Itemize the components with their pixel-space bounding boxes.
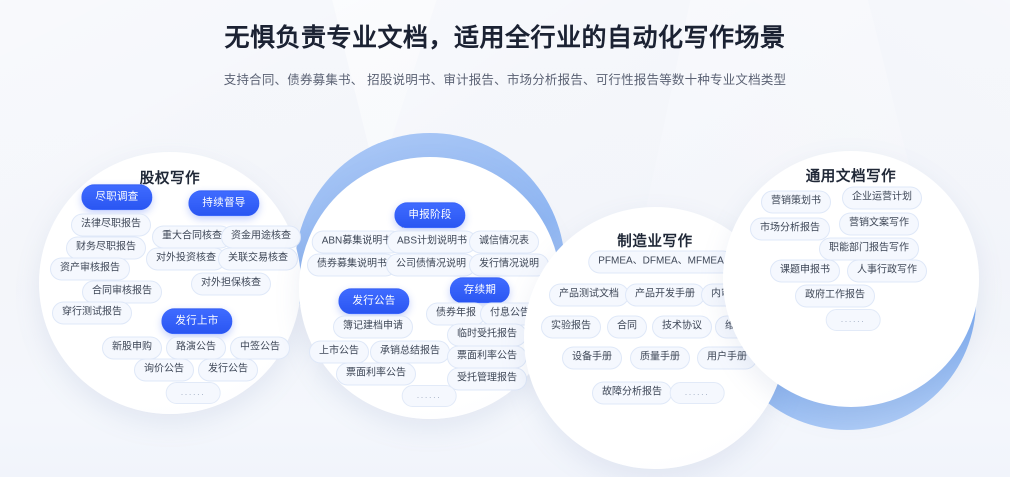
doc-type-tag[interactable]: 临时受托报告 <box>447 324 527 347</box>
doc-type-tag[interactable]: 公司债情况说明 <box>386 254 476 277</box>
doc-type-tag[interactable]: 票面利率公告 <box>447 346 527 369</box>
doc-type-tag[interactable]: 设备手册 <box>562 347 622 370</box>
doc-type-tag[interactable]: 债券募集说明书 <box>307 254 397 277</box>
doc-type-tag[interactable]: 穿行测试报告 <box>52 302 132 325</box>
doc-type-tag[interactable]: 债券年报 <box>426 303 486 326</box>
more-tag[interactable]: ...... <box>402 385 457 407</box>
doc-type-tag[interactable]: 营销策划书 <box>761 191 831 214</box>
doc-type-tag[interactable]: 企业运营计划 <box>842 187 922 210</box>
doc-type-tag[interactable]: 重大合同核查 <box>152 226 232 249</box>
doc-type-tag[interactable]: 政府工作报告 <box>795 285 875 308</box>
doc-type-tag[interactable]: 询价公告 <box>134 359 194 382</box>
doc-type-tag[interactable]: 路演公告 <box>166 337 226 360</box>
stage-tag[interactable]: 持续督导 <box>188 190 259 216</box>
doc-type-tag[interactable]: 产品开发手册 <box>625 284 705 307</box>
doc-type-tag[interactable]: 发行公告 <box>198 359 258 382</box>
stage-tag[interactable]: 存续期 <box>450 277 510 303</box>
doc-type-tag[interactable]: 合同审核报告 <box>82 281 162 304</box>
doc-type-tag[interactable]: 关联交易核查 <box>218 248 298 271</box>
more-tag[interactable]: ...... <box>826 309 881 331</box>
doc-type-tag[interactable]: 营销文案写作 <box>839 213 919 236</box>
doc-type-tag[interactable]: 资金用途核查 <box>221 226 301 249</box>
doc-type-tag[interactable]: 发行情况说明 <box>469 254 549 277</box>
doc-type-tag[interactable]: 故障分析报告 <box>592 382 672 405</box>
stage-tag[interactable]: 申报阶段 <box>394 202 465 228</box>
doc-type-tag[interactable]: 技术协议 <box>652 316 712 339</box>
stage-tag[interactable]: 尽职调查 <box>81 184 152 210</box>
doc-type-tag[interactable]: 资产审核报告 <box>50 258 130 281</box>
more-tag[interactable]: ...... <box>670 382 725 404</box>
doc-type-tag[interactable]: 财务尽职报告 <box>66 237 146 260</box>
doc-type-tag[interactable]: 受托管理报告 <box>447 368 527 391</box>
page-header: 无惧负责专业文档，适用全行业的自动化写作场景 支持合同、债券募集书、 招股说明书… <box>0 22 1010 88</box>
doc-type-tag[interactable]: 对外投资核查 <box>146 248 226 271</box>
doc-type-tag[interactable]: 课题申报书 <box>770 260 840 283</box>
doc-type-tag[interactable]: 产品测试文档 <box>549 284 629 307</box>
doc-type-tag[interactable]: 上市公告 <box>309 341 369 364</box>
doc-type-tag[interactable]: 人事行政写作 <box>847 260 927 283</box>
page-subtitle: 支持合同、债券募集书、 招股说明书、审计报告、市场分析报告、可行性报告等数十种专… <box>0 69 1010 88</box>
stage-tag[interactable]: 发行公告 <box>338 288 409 314</box>
doc-type-tag[interactable]: 职能部门报告写作 <box>819 238 919 261</box>
doc-type-tag[interactable]: 承销总结报告 <box>370 341 450 364</box>
doc-type-tag[interactable]: 法律尽职报告 <box>71 214 151 237</box>
doc-type-tag[interactable]: 簿记建档申请 <box>333 316 413 339</box>
doc-type-tag[interactable]: ABS计划说明书 <box>387 231 477 254</box>
doc-type-tag[interactable]: 中签公告 <box>230 337 290 360</box>
doc-type-tag[interactable]: 对外担保核查 <box>191 273 271 296</box>
doc-type-tag[interactable]: 合同 <box>607 316 647 339</box>
more-tag[interactable]: ...... <box>166 382 221 404</box>
doc-type-tag[interactable]: 新股申购 <box>102 337 162 360</box>
doc-type-tag[interactable]: 质量手册 <box>630 347 690 370</box>
doc-type-tag[interactable]: 票面利率公告 <box>336 363 416 386</box>
doc-type-tag[interactable]: PFMEA、DFMEA、MFMEA <box>588 251 734 274</box>
stage-tag[interactable]: 发行上市 <box>161 308 232 334</box>
category-title-general-doc-writing: 通用文档写作 <box>741 165 961 186</box>
doc-type-tag[interactable]: 市场分析报告 <box>750 218 830 241</box>
page-title: 无惧负责专业文档，适用全行业的自动化写作场景 <box>0 22 1010 56</box>
doc-type-tag[interactable]: 诚信情况表 <box>469 231 539 254</box>
doc-type-tag[interactable]: 实验报告 <box>541 316 601 339</box>
